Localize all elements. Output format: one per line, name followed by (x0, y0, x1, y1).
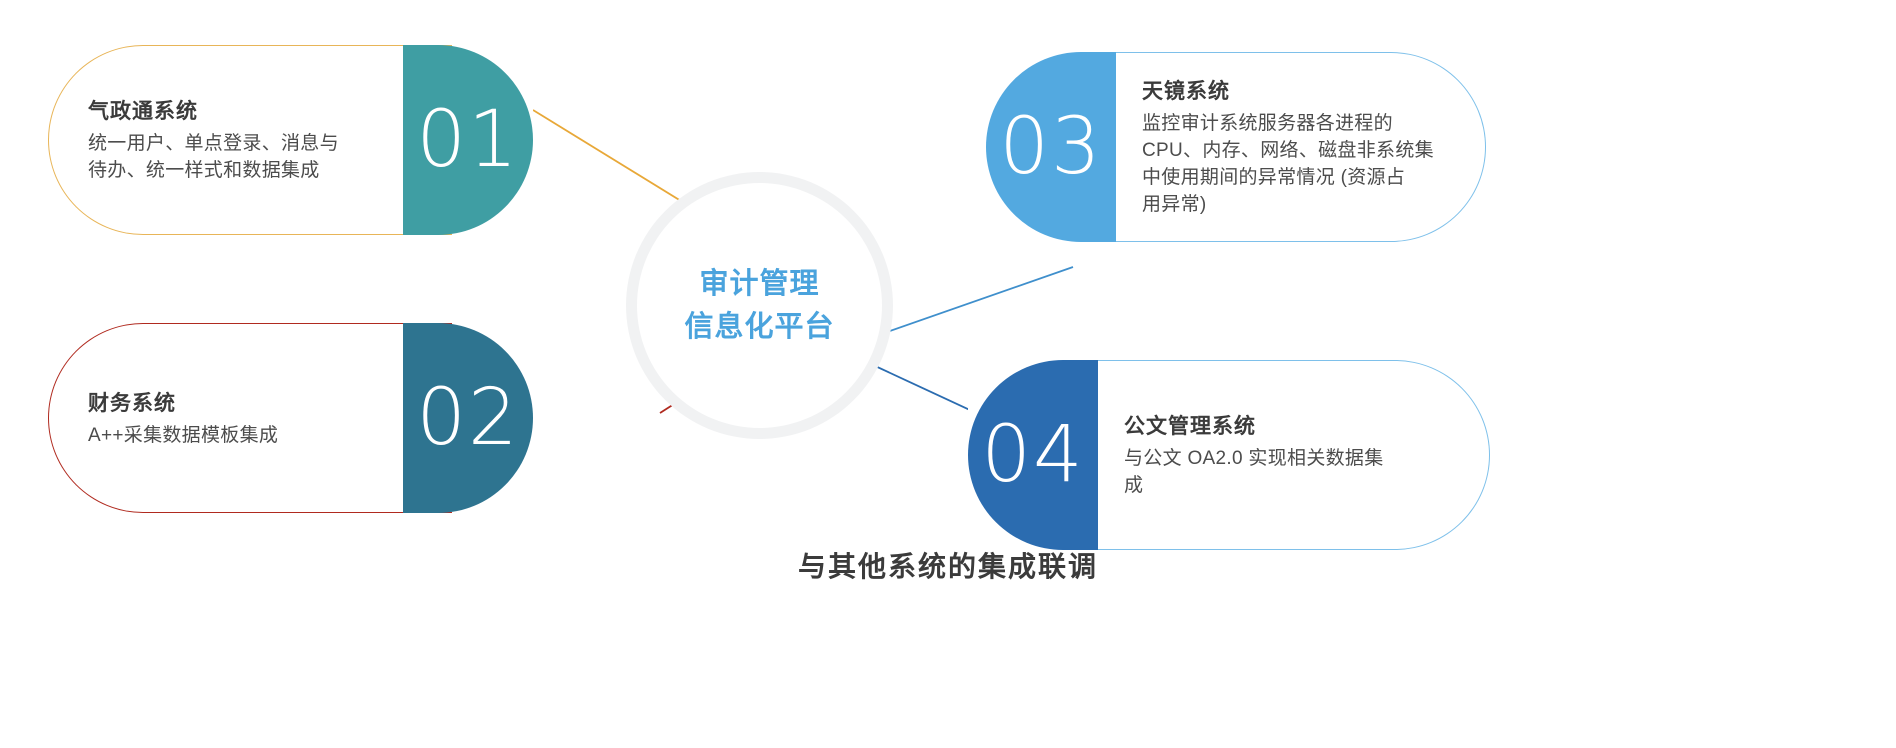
card-02-body: 财务系统 A++采集数据模板集成 (48, 323, 403, 513)
card-02-number-panel: 02 (403, 323, 533, 513)
card-04-number-panel: 04 (968, 360, 1098, 550)
center-hub: 审计管理 信息化平台 (637, 183, 882, 428)
card-02[interactable]: 财务系统 A++采集数据模板集成 02 (48, 323, 533, 513)
card-01[interactable]: 气政通系统 统一用户、单点登录、消息与 待办、统一样式和数据集成 01 (48, 45, 533, 235)
card-01-number-panel: 01 (403, 45, 533, 235)
card-02-desc: A++采集数据模板集成 (88, 423, 391, 450)
center-hub-title: 审计管理 信息化平台 (684, 263, 834, 347)
card-03-number-panel: 03 (986, 52, 1116, 242)
connector-line-03 (850, 267, 1073, 345)
card-03-body: 天镜系统 监控审计系统服务器各进程的 CPU、内存、网络、磁盘非系统集 中使用期… (1116, 52, 1486, 242)
card-04-number: 04 (981, 416, 1084, 494)
card-01-desc: 统一用户、单点登录、消息与 待办、统一样式和数据集成 (88, 131, 391, 185)
card-04-title: 公文管理系统 (1124, 410, 1456, 440)
card-03[interactable]: 03 天镜系统 监控审计系统服务器各进程的 CPU、内存、网络、磁盘非系统集 中… (986, 52, 1486, 242)
card-04-desc: 与公文 OA2.0 实现相关数据集 成 (1124, 446, 1456, 500)
card-03-title: 天镜系统 (1142, 75, 1452, 105)
card-01-number: 01 (416, 101, 519, 179)
card-02-number: 02 (416, 379, 519, 457)
card-03-number: 03 (999, 108, 1102, 186)
card-04[interactable]: 04 公文管理系统 与公文 OA2.0 实现相关数据集 成 (968, 360, 1490, 550)
card-01-body: 气政通系统 统一用户、单点登录、消息与 待办、统一样式和数据集成 (48, 45, 403, 235)
card-02-title: 财务系统 (88, 387, 391, 417)
card-04-body: 公文管理系统 与公文 OA2.0 实现相关数据集 成 (1098, 360, 1490, 550)
diagram-caption: 与其他系统的集成联调 (0, 545, 1896, 585)
diagram-canvas: 气政通系统 统一用户、单点登录、消息与 待办、统一样式和数据集成 01 财务系统… (0, 0, 1896, 748)
card-03-desc: 监控审计系统服务器各进程的 CPU、内存、网络、磁盘非系统集 中使用期间的异常情… (1142, 111, 1452, 219)
card-01-title: 气政通系统 (88, 95, 391, 125)
